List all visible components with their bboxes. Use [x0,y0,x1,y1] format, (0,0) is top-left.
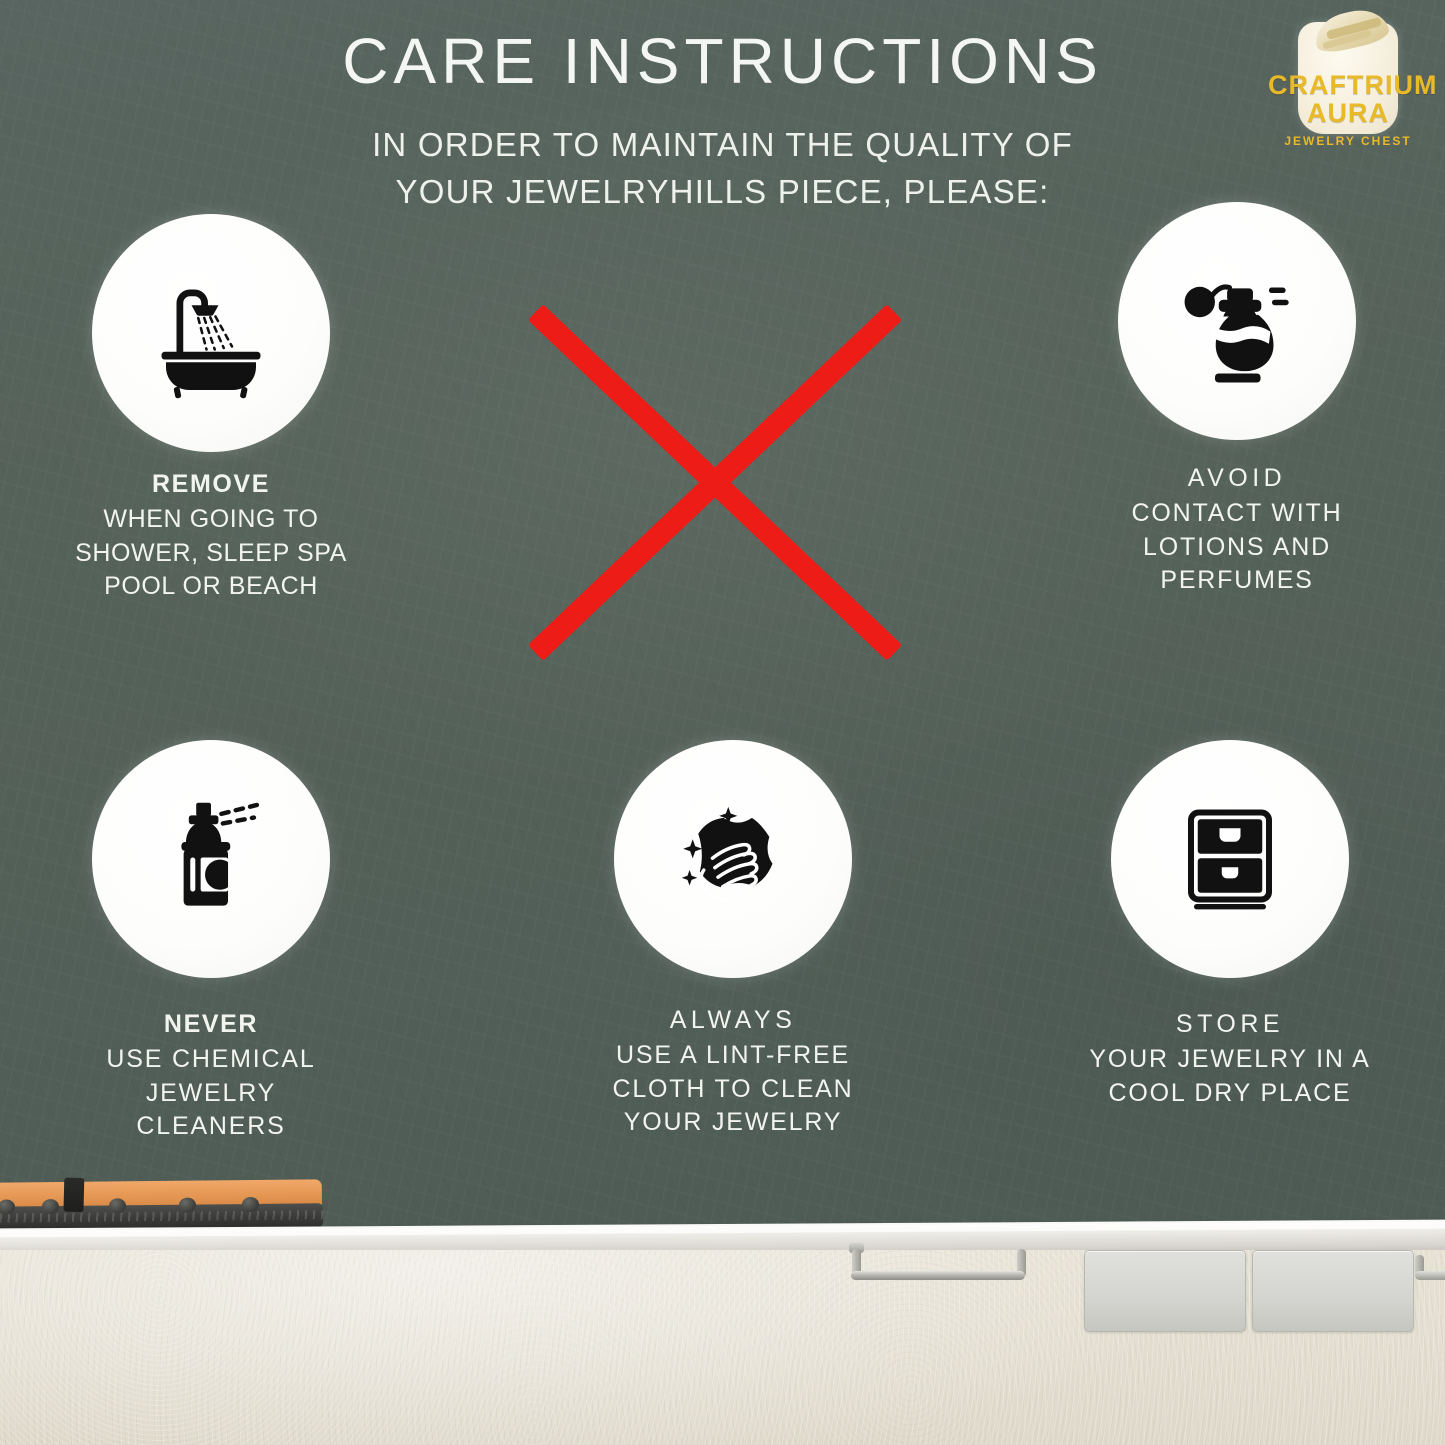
care-body-line: PERFUMES [1072,564,1402,597]
care-body-line: CLOTH TO CLEAN [568,1073,898,1106]
care-item-body: USE A LINT-FREE CLOTH TO CLEAN YOUR JEWE… [568,1039,898,1139]
care-body-line: JEWELRY [46,1077,376,1110]
care-item-body: YOUR JEWELRY IN A COOL DRY PLACE [1065,1043,1395,1110]
care-item-store-cool-dry: STORE YOUR JEWELRY IN A COOL DRY PLACE [1065,740,1395,1110]
care-body-line: CONTACT WITH [1072,497,1402,530]
care-item-heading: REMOVE [46,468,376,501]
eraser-stud [109,1198,126,1213]
spray-can-icon [137,785,285,933]
hand-polishing-cloth-icon [654,780,812,938]
care-body-line: POOL OR BEACH [46,570,376,603]
jewelry-drawer-chest-icon [1155,784,1305,934]
red-x-mark [455,235,975,730]
care-item-caption: ALWAYS USE A LINT-FREE CLOTH TO CLEAN YO… [568,1004,898,1139]
care-item-avoid-lotions: AVOID CONTACT WITH LOTIONS AND PERFUMES [1072,202,1402,597]
care-item-always-cloth: ALWAYS USE A LINT-FREE CLOTH TO CLEAN YO… [568,740,898,1139]
care-body-line: SHOWER, SLEEP SPA [46,537,376,570]
brand-name-line-1: CRAFTRIUM [1268,70,1437,100]
care-item-body: USE CHEMICAL JEWELRY CLEANERS [46,1043,376,1143]
bathtub-shower-icon [136,258,286,408]
cabinet-handle-secondary[interactable] [1415,1255,1445,1285]
perfume-bottle-icon [1161,245,1313,397]
care-body-line: YOUR JEWELRY [568,1106,898,1139]
eraser-stud [242,1197,259,1212]
care-item-caption: AVOID CONTACT WITH LOTIONS AND PERFUMES [1072,462,1402,597]
care-item-heading: ALWAYS [568,1004,898,1037]
care-item-heading: NEVER [46,1008,376,1041]
eraser-stud [42,1199,59,1214]
care-instructions-poster: CARE INSTRUCTIONS IN ORDER TO MAINTAIN T… [0,0,1445,1445]
icon-circle [1118,202,1356,440]
brand-name-line-2: AURA [1268,100,1428,128]
care-body-line: COOL DRY PLACE [1065,1077,1395,1110]
care-item-body: WHEN GOING TO SHOWER, SLEEP SPA POOL OR … [46,503,376,603]
care-item-caption: REMOVE WHEN GOING TO SHOWER, SLEEP SPA P… [46,468,376,603]
care-item-remove-shower: REMOVE WHEN GOING TO SHOWER, SLEEP SPA P… [46,214,376,603]
care-body-line: USE A LINT-FREE [568,1039,898,1072]
care-body-line: CLEANERS [46,1110,376,1143]
icon-circle [1111,740,1349,978]
icon-circle [614,740,852,978]
blank-label-panel[interactable] [1084,1250,1246,1332]
handle-bar [1415,1271,1445,1280]
care-item-caption: STORE YOUR JEWELRY IN A COOL DRY PLACE [1065,1008,1395,1110]
brand-name: CRAFTRIUM AURA [1268,72,1428,127]
care-body-line: USE CHEMICAL [46,1043,376,1076]
chalkboard-eraser [0,1179,322,1231]
icon-circle [92,740,330,978]
care-item-caption: NEVER USE CHEMICAL JEWELRY CLEANERS [46,1008,376,1143]
page-title: CARE INSTRUCTIONS [0,28,1445,95]
care-item-heading: AVOID [1072,462,1402,495]
handle-bar [851,1271,1025,1280]
care-item-body: CONTACT WITH LOTIONS AND PERFUMES [1072,497,1402,597]
care-item-never-chemicals: NEVER USE CHEMICAL JEWELRY CLEANERS [46,740,376,1143]
brand-logo: CRAFTRIUM AURA JEWELRY CHEST [1268,16,1428,166]
care-body-line: WHEN GOING TO [46,503,376,536]
eraser-strap [63,1178,84,1212]
subtitle-line-1: IN ORDER TO MAINTAIN THE QUALITY OF [372,126,1073,163]
care-item-heading: STORE [1065,1008,1395,1041]
care-body-line: YOUR JEWELRY IN A [1065,1043,1395,1076]
cabinet-handle[interactable] [845,1247,1031,1291]
icon-circle [92,214,330,452]
blank-label-panel[interactable] [1252,1250,1414,1332]
eraser-stud [179,1198,196,1213]
care-body-line: LOTIONS AND [1072,531,1402,564]
brand-tagline: JEWELRY CHEST [1268,134,1428,148]
